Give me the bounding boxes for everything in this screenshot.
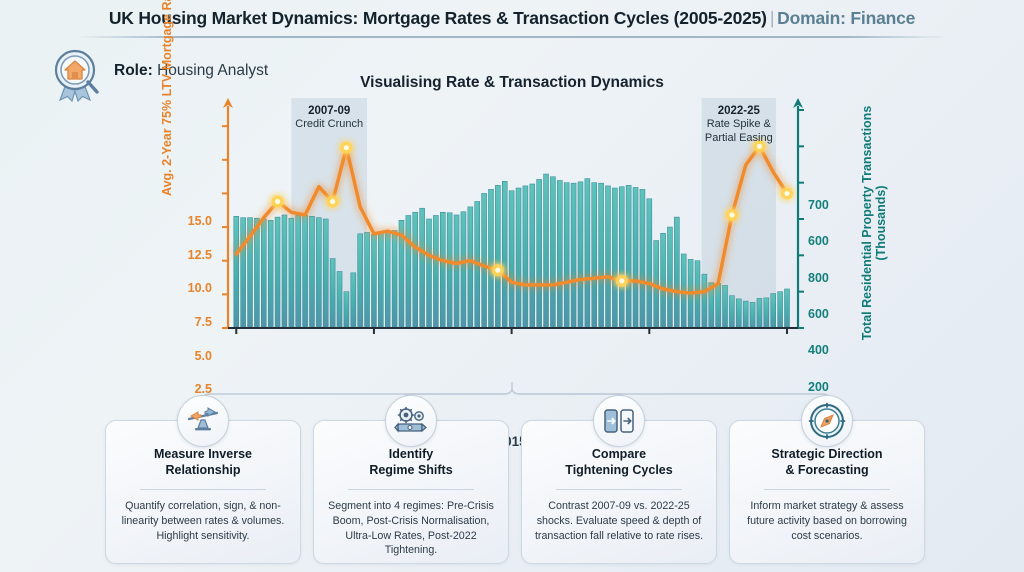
bar [461,212,466,328]
bar [447,213,452,328]
chart-title: Visualising Rate & Transaction Dynamics [0,74,1024,92]
annotation-subtitle: Partial Easing [705,132,773,144]
annotation-subtitle: Credit Crunch [295,118,363,130]
bar [764,298,769,328]
bar [275,217,280,328]
bar [365,232,370,328]
bar [385,232,390,328]
card-divider [348,489,474,490]
card-title-line1: Identify [389,447,433,461]
left-axis-label: Avg. 2-Year 75% LTV Mortgage Rate (%) [160,0,174,196]
bar [316,218,321,328]
bar [743,301,748,328]
card-divider [764,489,890,490]
card-body: Quantify correlation, sign, & non-linear… [115,499,291,543]
bar [771,294,776,328]
bar [261,219,266,328]
bar [516,188,521,328]
bar [585,179,590,328]
left-y-tick-label: 10.0 [166,281,212,295]
bar [468,207,473,328]
bar [530,184,535,328]
bar [557,181,562,328]
bar [289,218,294,328]
bar [440,212,445,328]
bar [544,174,549,328]
bar [234,216,239,328]
gears-pipeline-icon [385,395,437,447]
right-y-tick-label: 600 [808,234,854,248]
line-highlight-point [492,264,504,276]
bar [640,189,645,328]
bar [268,220,273,328]
compass-icon [801,395,853,447]
card-title: Measure InverseRelationship [114,447,292,478]
bar [633,188,638,328]
card-title: IdentifyRegime Shifts [322,447,500,478]
bar [661,233,666,328]
bar [241,218,246,328]
bar [702,274,707,328]
bar [323,219,328,328]
bar [523,186,528,328]
line-highlight-point [327,196,339,208]
left-y-tick-label: 7.5 [166,315,212,329]
bar [592,183,597,328]
card-title-line2: Regime Shifts [369,463,452,477]
card-body: Segment into 4 regimes: Pre-Crisis Boom,… [323,499,499,558]
card-title-line1: Measure Inverse [154,447,252,461]
bar [413,212,418,328]
bar [550,177,555,328]
right-axis-label: Total Residential Property Transactions … [860,98,889,348]
page-title: UK Housing Market Dynamics: Mortgage Rat… [0,8,1024,29]
line-highlight-point [272,196,284,208]
page-title-main: UK Housing Market Dynamics: Mortgage Rat… [109,8,767,28]
right-y-tick-label: 800 [808,271,854,285]
bar [310,216,315,328]
bar [599,183,604,328]
bar [254,218,259,328]
card-body: Inform market strategy & assess future a… [739,499,915,543]
bar [716,284,721,328]
annotation-title: 2022-25 [718,105,760,117]
bar [495,185,500,328]
bar [330,259,335,328]
left-y-tick-label: 5.0 [166,349,212,363]
bar [785,289,790,328]
title-separator: | [767,8,777,28]
right-y-tick-label: 400 [808,343,854,357]
bar [502,181,507,328]
bar [626,185,631,328]
bar [454,215,459,328]
bar [296,216,301,328]
bar [420,208,425,328]
bar [358,234,363,328]
compare-panels-icon [593,395,645,447]
bar [612,188,617,328]
bar [667,227,672,328]
card-connectors [0,382,1024,412]
bar [371,234,376,328]
bar [406,216,411,328]
insight-cards: Measure InverseRelationship Quantify cor… [0,398,1024,572]
annotation-label-1: 2022-25Rate Spike &Partial Easing [669,104,809,145]
bar [427,219,432,328]
bar [619,187,624,328]
card-title-line1: Compare [592,447,646,461]
left-y-tick-label: 15.0 [166,214,212,228]
page-header: UK Housing Market Dynamics: Mortgage Rat… [0,0,1024,42]
bar [392,231,397,328]
card-body: Contrast 2007-09 vs. 2022-25 shocks. Eva… [531,499,707,543]
right-axis-label-line2: (Thousands) [874,186,888,261]
bar [729,296,734,328]
bar [757,298,762,328]
card-divider [140,489,266,490]
left-y-tick-label: 12.5 [166,248,212,262]
annotation-subtitle: Rate Spike & [707,118,771,130]
bar [736,299,741,328]
card-title-line2: & Forecasting [785,463,868,477]
bar [606,186,611,328]
right-y-tick-label: 700 [808,198,854,212]
chart-container: Avg. 2-Year 75% LTV Mortgage Rate (%) To… [0,96,1024,368]
bar [282,215,287,328]
header-divider [75,36,949,38]
card-title-line2: Relationship [165,463,240,477]
balance-scale-icon [177,395,229,447]
bar [509,191,514,328]
annotation-title: 2007-09 [308,105,350,117]
bar [571,183,576,328]
bar [750,302,755,328]
bar [647,199,652,328]
bar [337,271,342,328]
line-highlight-point [616,275,628,287]
bar [482,193,487,328]
card-title-line1: Strategic Direction [771,447,882,461]
bar [564,183,569,328]
annotation-label-0: 2007-09Credit Crunch [259,104,399,132]
bar [695,261,700,328]
bar [433,216,438,328]
bar [351,273,356,328]
bar [303,216,308,328]
bar [674,217,679,328]
line-highlight-point [781,187,793,199]
right-y-tick-label: 600 [808,307,854,321]
bar [344,292,349,328]
bar [488,189,493,328]
bar [723,285,728,328]
bar [578,182,583,328]
line-highlight-point [726,209,738,221]
card-divider [556,489,682,490]
domain-label: Domain: Finance [777,8,915,28]
bar [537,179,542,328]
right-axis-label-line1: Total Residential Property Transactions [860,106,874,341]
bar [378,233,383,328]
card-title-line2: Tightening Cycles [565,463,672,477]
card-title: CompareTightening Cycles [530,447,708,478]
bar [778,292,783,328]
card-title: Strategic Direction& Forecasting [738,447,916,478]
line-highlight-point [340,142,352,154]
